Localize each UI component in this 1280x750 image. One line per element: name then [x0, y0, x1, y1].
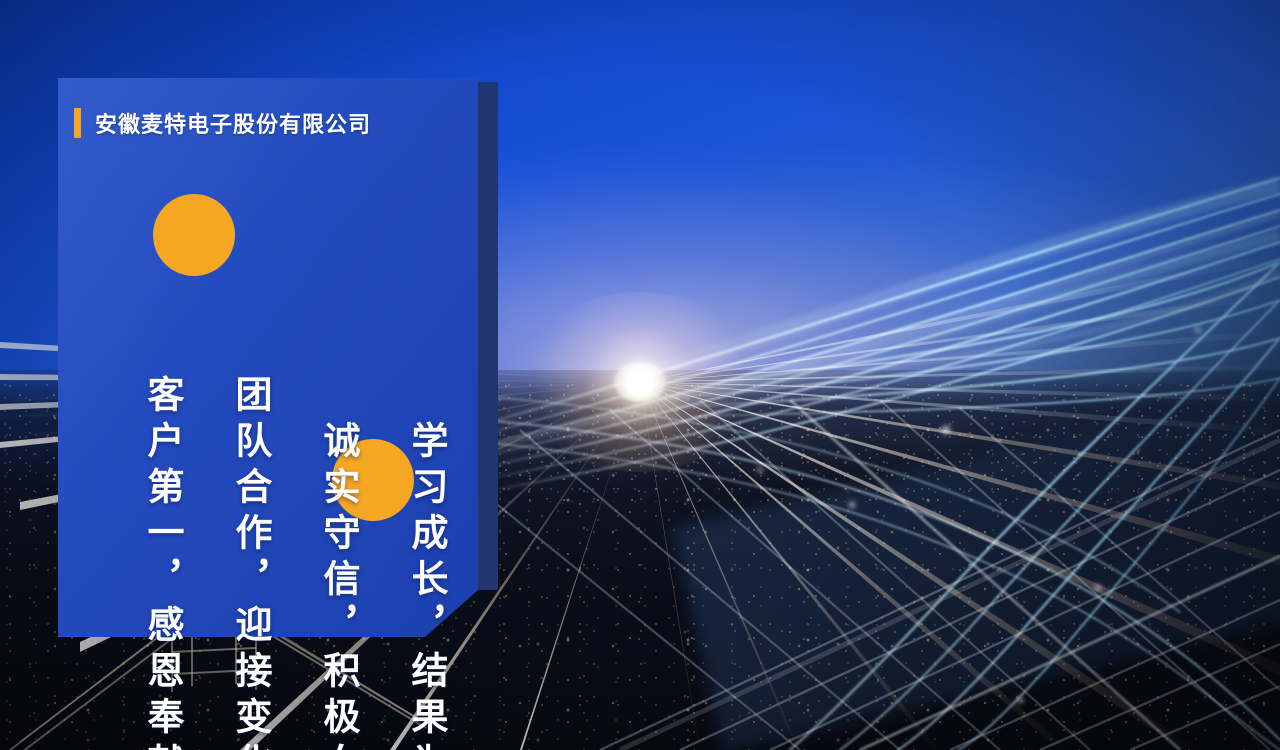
title-accent-bar — [74, 108, 81, 138]
slogan-column-1: 学习成长，结果为王 — [408, 421, 445, 750]
slogan-column-3: 团队合作，迎接变化 — [232, 375, 269, 750]
slogan-columns: 学习成长，结果为王 诚实守信，积极向上 团队合作，迎接变化 客户第一，感恩奉献 — [58, 175, 478, 615]
slogan-column-2: 诚实守信，积极向上 — [320, 421, 357, 750]
banner-canvas: 安徽麦特电子股份有限公司 学习成长，结果为王 诚实守信，积极向上 团队合作，迎接… — [0, 0, 1280, 750]
panel-title-row: 安徽麦特电子股份有限公司 — [74, 106, 371, 140]
panel-side-shadow — [478, 82, 498, 590]
slogan-column-4: 客户第一，感恩奉献 — [144, 375, 181, 750]
company-name: 安徽麦特电子股份有限公司 — [95, 107, 371, 139]
